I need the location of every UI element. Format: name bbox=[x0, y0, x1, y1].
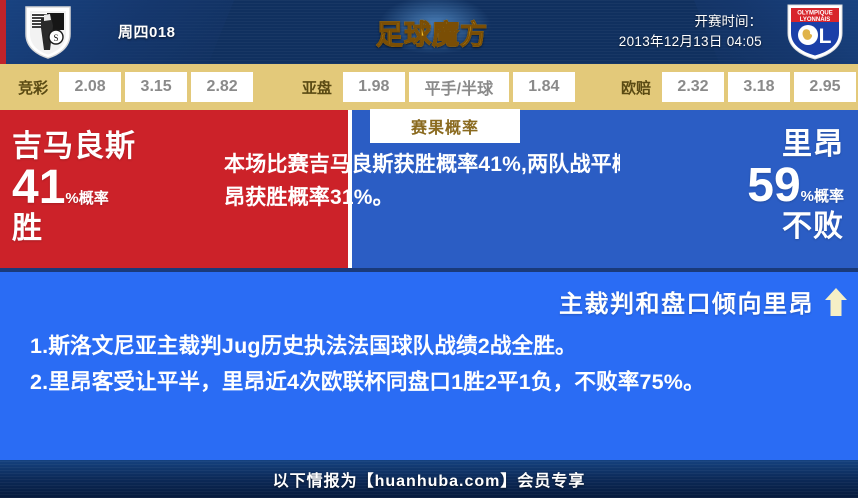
odds-cell-jingcai-away[interactable]: 2.82 bbox=[191, 72, 253, 102]
analysis-item-1: 1.斯洛文尼亚主裁判Jug历史执法法国球队战绩2战全胜。 bbox=[30, 328, 830, 364]
away-percent-line: 59%概率 bbox=[747, 162, 844, 210]
arrow-up-icon bbox=[824, 287, 848, 317]
away-team-name: 里昂 bbox=[747, 128, 844, 162]
away-result-label: 不败 bbox=[747, 210, 844, 244]
odds-cell-yapan-away[interactable]: 1.84 bbox=[513, 72, 575, 102]
analysis-headline: 主裁判和盘口倾向里昂 bbox=[559, 284, 814, 319]
home-result-label: 胜 bbox=[12, 212, 136, 246]
away-percent-value: 59 bbox=[747, 159, 800, 212]
away-team-crest-icon: OLYMPIQUE LYONNAIS L bbox=[784, 3, 846, 61]
odds-label-yapan: 亚盘 bbox=[293, 77, 341, 98]
match-preview-card: S 周四018 足球魔方 开赛时间： 2013年12月13日 04:05 OLY… bbox=[0, 0, 858, 498]
odds-group-oupei: 欧赔 2.32 3.18 2.95 bbox=[612, 64, 858, 110]
kickoff-label: 开赛时间： bbox=[619, 12, 762, 32]
probability-summary-panel: 赛果概率 本场比赛吉马良斯获胜概率41%,两队战平概率28%,里昂获胜概率31%… bbox=[352, 110, 620, 268]
header-red-edge bbox=[0, 0, 6, 64]
odds-label-jingcai: 竞彩 bbox=[9, 77, 57, 98]
analysis-panel: 主裁判和盘口倾向里昂 1.斯洛文尼亚主裁判Jug历史执法法国球队战绩2战全胜。 … bbox=[0, 272, 858, 460]
probability-row: 吉马良斯 41%概率 胜 赛果概率 本场比赛吉马良斯获胜概率41%,两队战平概率… bbox=[0, 110, 858, 268]
analysis-list: 1.斯洛文尼亚主裁判Jug历史执法法国球队战绩2战全胜。 2.里昂客受让平半，里… bbox=[30, 328, 830, 400]
odds-label-oupei: 欧赔 bbox=[612, 77, 660, 98]
odds-cell-oupei-draw[interactable]: 3.18 bbox=[728, 72, 790, 102]
odds-cell-yapan-handicap[interactable]: 平手/半球 bbox=[409, 72, 509, 102]
svg-text:S: S bbox=[53, 33, 58, 43]
odds-bar: 竞彩 2.08 3.15 2.82 亚盘 1.98 平手/半球 1.84 欧赔 … bbox=[0, 64, 858, 110]
analysis-item-2: 2.里昂客受让平半，里昂近4次欧联杯同盘口1胜2平1负，不败率75%。 bbox=[30, 364, 830, 400]
odds-group-jingcai: 竞彩 2.08 3.15 2.82 bbox=[9, 64, 255, 110]
odds-cell-jingcai-home[interactable]: 2.08 bbox=[59, 72, 121, 102]
footer-bar: 以下情报为【huanhuba.com】会员专享 bbox=[0, 460, 858, 498]
away-percent-suffix: %概率 bbox=[801, 188, 844, 205]
away-probability-block: 里昂 59%概率 不败 bbox=[747, 128, 844, 244]
odds-cell-jingcai-draw[interactable]: 3.15 bbox=[125, 72, 187, 102]
site-logo: 足球魔方 bbox=[367, 9, 497, 55]
home-team-crest-icon: S bbox=[20, 4, 76, 60]
home-percent-suffix: %概率 bbox=[65, 190, 108, 207]
tab-result-probability[interactable]: 赛果概率 bbox=[370, 109, 520, 143]
home-team-name: 吉马良斯 bbox=[12, 130, 136, 164]
svg-text:L: L bbox=[819, 25, 832, 48]
home-probability-block: 吉马良斯 41%概率 胜 bbox=[12, 130, 136, 246]
site-logo-text: 足球魔方 bbox=[376, 13, 488, 52]
home-percent-line: 41%概率 bbox=[12, 164, 136, 212]
svg-text:LYONNAIS: LYONNAIS bbox=[800, 17, 830, 23]
header-bar: S 周四018 足球魔方 开赛时间： 2013年12月13日 04:05 OLY… bbox=[0, 0, 858, 64]
analysis-headline-row: 主裁判和盘口倾向里昂 bbox=[559, 284, 848, 319]
away-probability-panel: 里昂 59%概率 不败 bbox=[620, 110, 858, 268]
odds-cell-oupei-home[interactable]: 2.32 bbox=[662, 72, 724, 102]
odds-cell-yapan-home[interactable]: 1.98 bbox=[343, 72, 405, 102]
match-number: 周四018 bbox=[118, 21, 176, 42]
svg-text:OLYMPIQUE: OLYMPIQUE bbox=[797, 11, 832, 17]
kickoff-info: 开赛时间： 2013年12月13日 04:05 bbox=[619, 12, 762, 52]
home-percent-value: 41 bbox=[12, 161, 65, 214]
odds-cell-oupei-away[interactable]: 2.95 bbox=[794, 72, 856, 102]
footer-text: 以下情报为【huanhuba.com】会员专享 bbox=[273, 467, 586, 491]
odds-group-yapan: 亚盘 1.98 平手/半球 1.84 bbox=[293, 64, 577, 110]
kickoff-value: 2013年12月13日 04:05 bbox=[619, 32, 762, 52]
